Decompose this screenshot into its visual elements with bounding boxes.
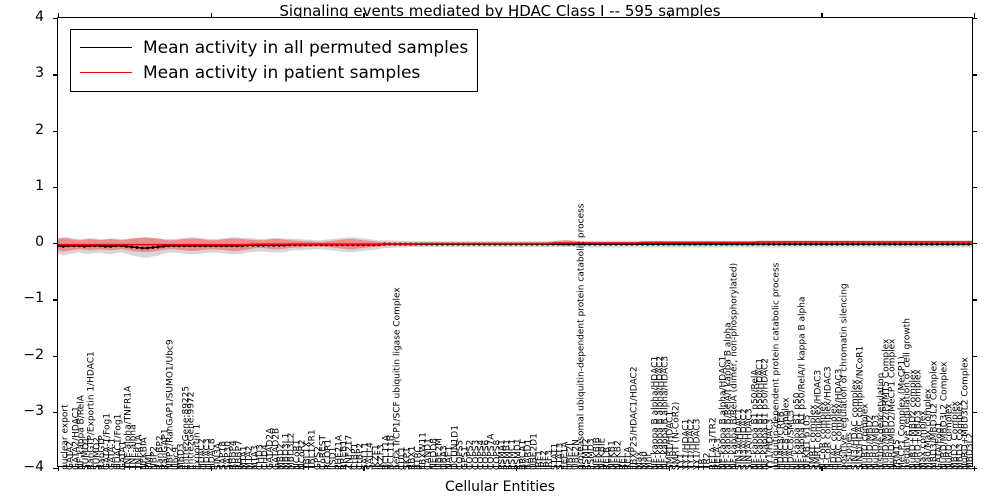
data-point (794, 243, 797, 246)
y-tick-mark (972, 299, 977, 300)
data-point (757, 243, 760, 246)
legend-swatch-permuted (80, 47, 132, 48)
y-tick-mark (53, 131, 58, 132)
x-tick-label: MBD3L2 (967, 433, 976, 470)
data-point (904, 243, 907, 246)
data-point (841, 243, 844, 246)
legend-swatch-patient (80, 72, 132, 73)
data-point (888, 243, 891, 246)
legend-label-patient: Mean activity in patient samples (143, 63, 420, 83)
y-tick-mark (972, 187, 977, 188)
data-point (767, 243, 770, 246)
y-tick-mark (53, 299, 58, 300)
data-point (862, 243, 865, 246)
data-point (941, 243, 944, 246)
data-point (925, 243, 928, 246)
y-tick-mark (972, 18, 977, 19)
data-point (778, 243, 781, 246)
data-point (899, 243, 902, 246)
x-tick-mark (516, 13, 517, 18)
data-point (830, 243, 833, 246)
data-point (915, 243, 918, 246)
y-tick-label: 2 (35, 122, 44, 138)
x-tick-mark (58, 13, 59, 18)
y-tick-label: −1 (23, 290, 44, 306)
data-point (878, 243, 881, 246)
figure-canvas: Signaling events mediated by HDAC Class … (0, 0, 1000, 500)
data-point (825, 243, 828, 246)
data-point (799, 243, 802, 246)
legend-label-permuted: Mean activity in all permuted samples (143, 38, 468, 58)
chart-legend: Mean activity in all permuted samples Me… (70, 29, 478, 92)
data-point (820, 243, 823, 246)
data-point (151, 246, 154, 249)
y-tick-label: 0 (35, 234, 44, 250)
y-tick-mark (53, 243, 58, 244)
x-tick-label: proteasomal ubiquitin-dependent protein … (577, 204, 586, 470)
y-tick-mark (972, 243, 977, 244)
x-tick-label: beta TrCP1/SCF ubiquitin ligase Complex (393, 287, 402, 470)
data-point (762, 243, 765, 246)
x-tick-mark (669, 13, 670, 18)
data-point (867, 243, 870, 246)
y-tick-mark (972, 74, 977, 75)
data-point (851, 243, 854, 246)
data-point (130, 245, 133, 248)
y-tick-mark (972, 131, 977, 132)
data-point (967, 243, 970, 246)
legend-entry-patient: Mean activity in patient samples (80, 60, 468, 85)
y-tick-mark (972, 412, 977, 413)
data-point (920, 243, 923, 246)
data-point (930, 243, 933, 246)
y-tick-mark (53, 18, 58, 19)
data-point (909, 243, 912, 246)
legend-entry-permuted: Mean activity in all permuted samples (80, 35, 468, 60)
y-tick-label: −4 (23, 459, 44, 475)
x-tick-mark (821, 13, 822, 18)
data-point (836, 243, 839, 246)
data-point (962, 243, 965, 246)
data-point (815, 243, 818, 246)
y-axis-tick-labels: −4−3−2−101234 (0, 0, 52, 500)
y-tick-label: 3 (35, 65, 44, 81)
data-point (772, 243, 775, 246)
data-point (946, 243, 949, 246)
data-point (783, 243, 786, 246)
y-tick-mark (53, 356, 58, 357)
data-point (809, 243, 812, 246)
data-point (894, 243, 897, 246)
y-tick-mark (53, 412, 58, 413)
data-point (846, 243, 849, 246)
y-tick-label: 4 (35, 9, 44, 25)
data-point (872, 243, 875, 246)
x-tick-mark (974, 13, 975, 18)
data-point (141, 247, 144, 250)
data-point (951, 243, 954, 246)
data-point (857, 243, 860, 246)
data-point (936, 243, 939, 246)
x-tick-mark (363, 13, 364, 18)
data-point (804, 243, 807, 246)
data-point (157, 245, 160, 248)
y-tick-mark (53, 187, 58, 188)
y-tick-label: −3 (23, 403, 44, 419)
data-point (788, 243, 791, 246)
y-tick-label: 1 (35, 178, 44, 194)
x-tick-mark (211, 13, 212, 18)
y-tick-mark (972, 356, 977, 357)
data-point (135, 246, 138, 249)
data-point (146, 247, 149, 250)
y-tick-mark (53, 74, 58, 75)
data-point (883, 243, 886, 246)
data-point (957, 243, 960, 246)
y-tick-label: −2 (23, 347, 44, 363)
x-axis-tick-labels: nuclear exportGATA2GATA2/HDAC1NF-kappa B… (57, 470, 973, 500)
